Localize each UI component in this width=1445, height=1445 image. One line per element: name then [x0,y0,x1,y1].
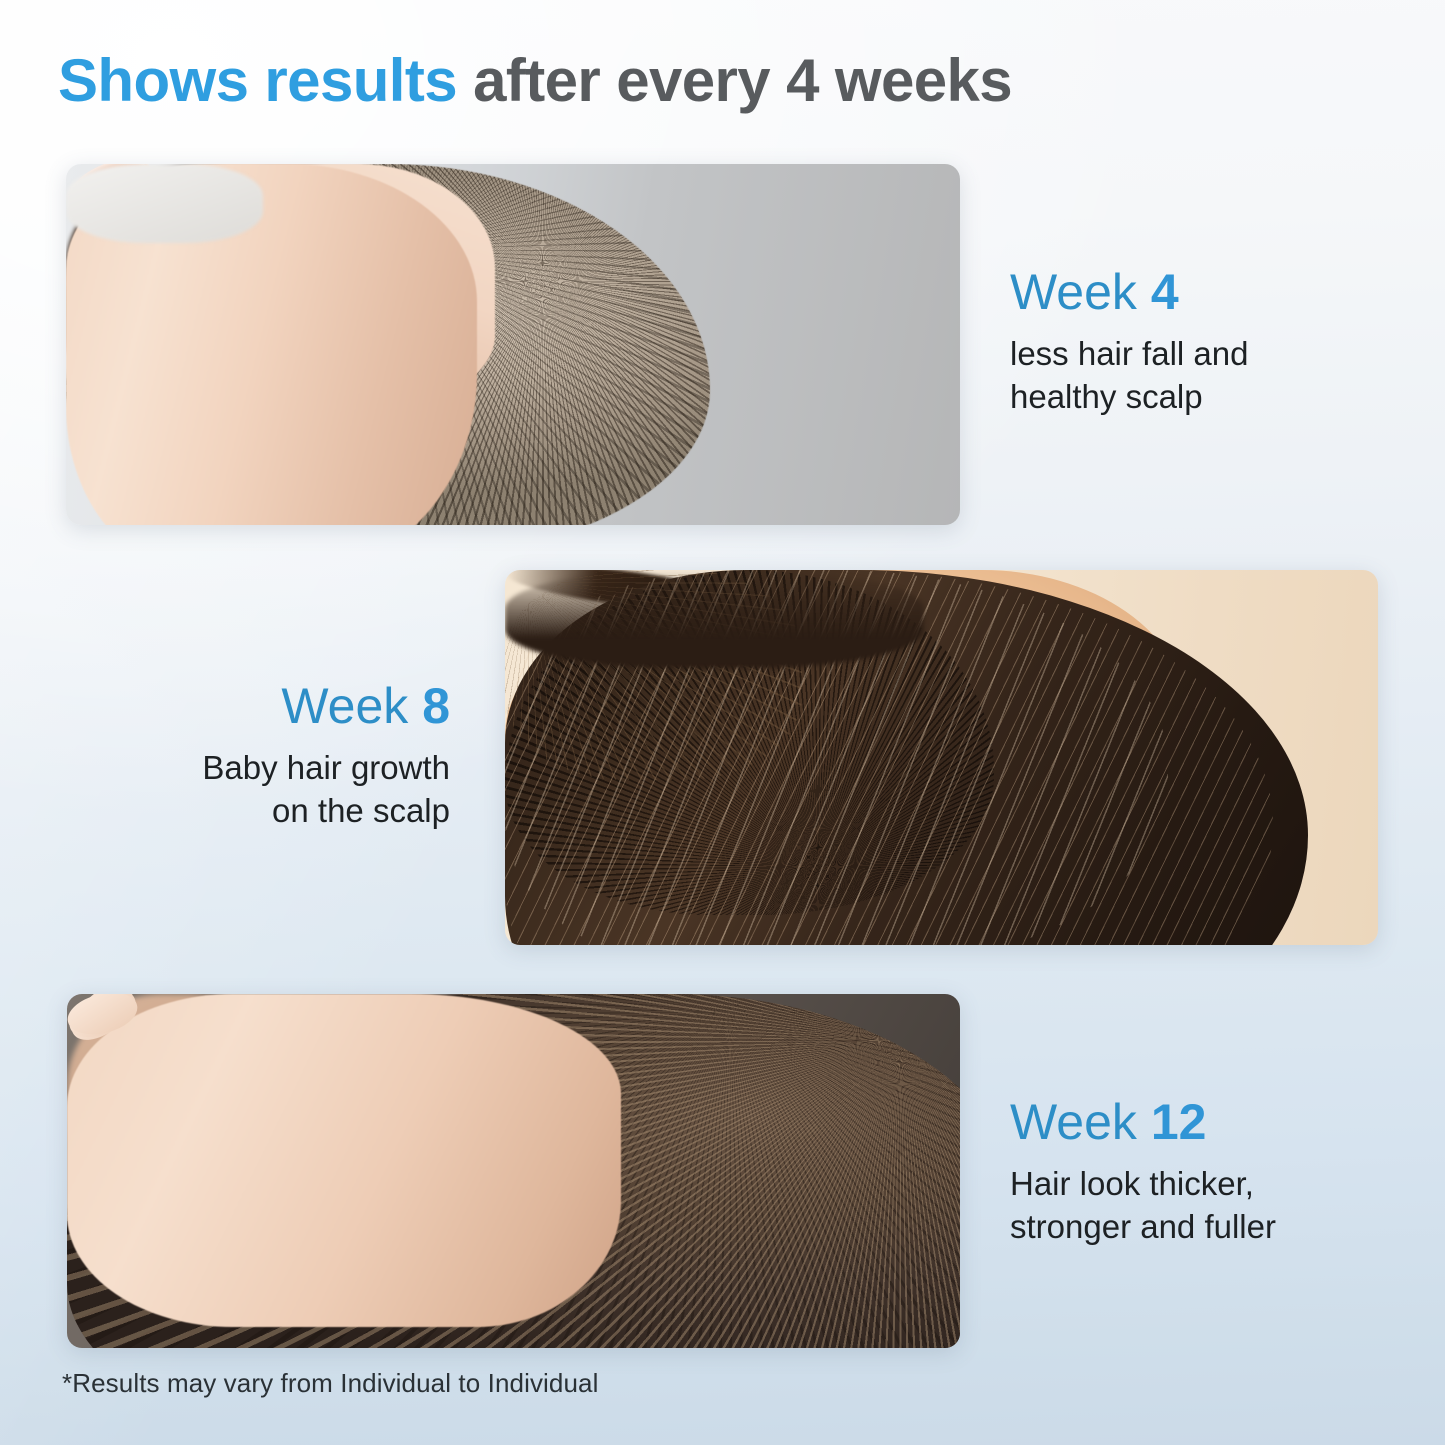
milestone-description: Hair look thicker, stronger and fuller [1010,1163,1276,1249]
page-title-accent: Shows results [58,47,457,114]
milestone-caption-week-4: Week 4 less hair fall and healthy scalp [1010,266,1248,419]
milestone-week-heading: Week 12 [1010,1096,1276,1149]
milestone-description-line: stronger and fuller [1010,1206,1276,1249]
milestone-caption-week-8: Week 8 Baby hair growth on the scalp [150,680,450,833]
milestone-description-line: on the scalp [150,790,450,833]
baby-hair-growth-photo [505,570,1378,945]
thicker-fuller-hair-photo [67,994,960,1348]
page-title: Shows results after every 4 weeks [58,46,1012,115]
milestone-description-line: healthy scalp [1010,376,1248,419]
milestone-week-word: Week [281,678,408,734]
milestone-week-heading: Week 8 [150,680,450,733]
milestone-description-line: Baby hair growth [150,747,450,790]
photo2-lower-hair [505,570,924,668]
thinning-scalp-photo [66,164,960,525]
milestone-week-word: Week [1010,264,1137,320]
milestone-description: less hair fall and healthy scalp [1010,333,1248,419]
milestone-week-heading: Week 4 [1010,266,1248,319]
milestone-week-number: 4 [1151,264,1179,320]
photo1-sleeve-cuff [66,164,263,243]
milestone-description-line: less hair fall and [1010,333,1248,376]
milestone-caption-week-12: Week 12 Hair look thicker, stronger and … [1010,1096,1276,1249]
milestone-week-number: 12 [1151,1094,1207,1150]
milestone-week-number: 8 [422,678,450,734]
page-title-plain: after every 4 weeks [457,47,1012,114]
results-disclaimer: *Results may vary from Individual to Ind… [62,1368,598,1399]
milestone-week-word: Week [1010,1094,1137,1150]
milestone-description-line: Hair look thicker, [1010,1163,1276,1206]
photo3-fingers [67,994,764,1277]
results-timeline-poster: Shows results after every 4 weeks Week 4… [0,0,1445,1445]
milestone-description: Baby hair growth on the scalp [150,747,450,833]
